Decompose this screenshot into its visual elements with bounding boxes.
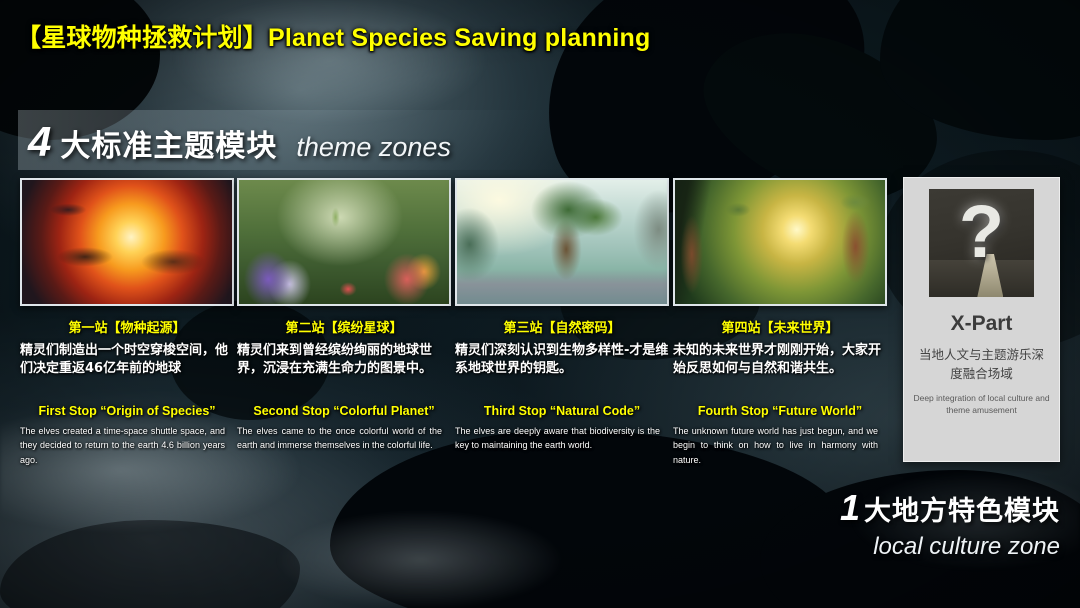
question-mark-icon: ? [929,195,1034,269]
xpart-description-en: Deep integration of local culture and th… [912,392,1052,418]
bottom-callout-number: 1 [840,487,860,529]
zone-title-cn: 第四站【未来世界】 [673,317,887,336]
xpart-panel[interactable]: ? X-Part 当地人文与主题游乐深度融合场域 Deep integratio… [903,177,1060,462]
zone-thumbnail-meteor-dinosaur[interactable] [20,178,234,306]
zone-title-en: First Stop “Origin of Species” [20,404,234,418]
section-title-en: theme zones [296,132,451,163]
bottom-callout-cn: 大地方特色模块 [864,489,1060,528]
giant-tree-valley-image [457,180,667,304]
xpart-title: X-Part [951,312,1013,336]
bottom-callout-line: 1 大地方特色模块 [840,487,1060,529]
zone-body-en: The elves created a time-space shuttle s… [20,424,225,467]
baobab-sunset-forest-image [675,180,885,304]
zone-thumbnail-baobab-sunset[interactable] [673,178,887,306]
zone-body-en: The elves came to the once colorful worl… [237,424,442,453]
meteor-dinosaur-extinction-image [22,180,232,304]
zone-title-cn: 第三站【自然密码】 [455,317,669,336]
bottom-callout: 1 大地方特色模块 local culture zone [840,487,1060,561]
zone-body-en: The unknown future world has just begun,… [673,424,878,467]
zone-thumbnail-colorful-forest[interactable] [237,178,451,306]
zone-body-cn: 精灵们深刻认识到生物多样性-才是维系地球世界的钥匙。 [455,342,669,379]
zone-body-cn: 精灵们来到曾经缤纷绚丽的地球世界，沉浸在充满生命力的图景中。 [237,342,451,379]
zone-title-en: Fourth Stop “Future World” [673,404,887,418]
zone-thumbnail-giant-tree[interactable] [455,178,669,306]
section-number: 4 [28,118,51,166]
bottom-callout-en: local culture zone [840,533,1060,561]
zone-card-third-stop[interactable]: 第三站【自然密码】 精灵们深刻认识到生物多样性-才是维系地球世界的钥匙。 Thi… [455,178,669,379]
slide-canvas: 【星球物种拯救计划】Planet Species Saving planning… [0,0,1080,608]
zone-title-en: Second Stop “Colorful Planet” [237,404,451,418]
zone-body-cn: 未知的未来世界才刚刚开始，大家开始反思如何与自然和谐共生。 [673,342,887,379]
zone-title-cn: 第二站【缤纷星球】 [237,317,451,336]
question-mark-doorway-image: ? [929,189,1034,297]
zone-card-fourth-stop[interactable]: 第四站【未来世界】 未知的未来世界才刚刚开始，大家开始反思如何与自然和谐共生。 … [673,178,887,379]
zone-card-first-stop[interactable]: 第一站【物种起源】 精灵们制造出一个时空穿梭空间，他们决定重返46亿年前的地球 … [20,178,234,379]
page-title: 【星球物种拯救计划】Planet Species Saving planning [16,18,651,54]
section-title-cn: 大标准主题模块 [60,121,277,165]
zone-body-cn: 精灵们制造出一个时空穿梭空间，他们决定重返46亿年前的地球 [20,342,234,379]
zone-title-en: Third Stop “Natural Code” [455,404,669,418]
section-header: 4 大标准主题模块 theme zones [28,118,451,166]
xpart-description-cn: 当地人文与主题游乐深度融合场域 [916,346,1048,384]
colorful-fantasy-forest-image [239,180,449,304]
zone-body-en: The elves are deeply aware that biodiver… [455,424,660,453]
zone-title-cn: 第一站【物种起源】 [20,317,234,336]
zone-card-second-stop[interactable]: 第二站【缤纷星球】 精灵们来到曾经缤纷绚丽的地球世界，沉浸在充满生命力的图景中。… [237,178,451,379]
